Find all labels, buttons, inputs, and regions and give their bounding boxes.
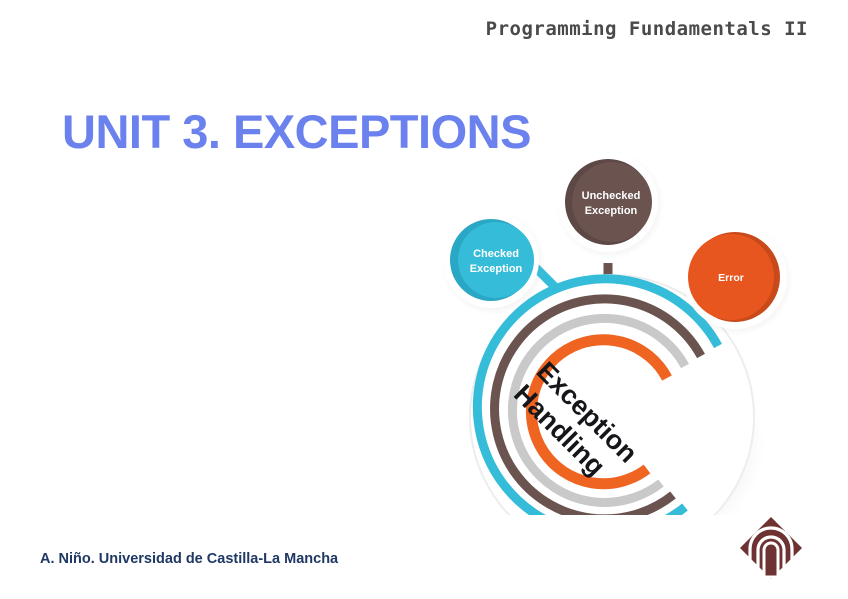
checked-bubble-fill <box>458 222 534 298</box>
logo-keyhole <box>764 543 778 577</box>
bubble-checked-exception[interactable]: Checked Exception <box>441 211 545 315</box>
footer-attribution: A. Niño. Universidad de Castilla-La Manc… <box>40 551 338 567</box>
unchecked-bubble-label-line1: Unchecked <box>582 190 641 202</box>
exception-handling-diagram: Exception Handling Checked Exception Unc… <box>415 145 815 515</box>
unchecked-bubble-fill <box>572 162 652 242</box>
error-bubble-label: Error <box>718 272 744 284</box>
bubble-unchecked-exception[interactable]: Unchecked Exception <box>556 151 664 259</box>
course-header: Programming Fundamentals II <box>486 18 808 40</box>
slide: Programming Fundamentals II UNIT 3. EXCE… <box>0 0 848 599</box>
uclm-logo <box>738 515 804 581</box>
checked-bubble-label-line2: Exception <box>470 263 523 275</box>
unchecked-bubble-label-line2: Exception <box>585 205 638 217</box>
bubble-error[interactable]: Error <box>681 224 793 336</box>
checked-bubble-label-line1: Checked <box>473 248 519 260</box>
